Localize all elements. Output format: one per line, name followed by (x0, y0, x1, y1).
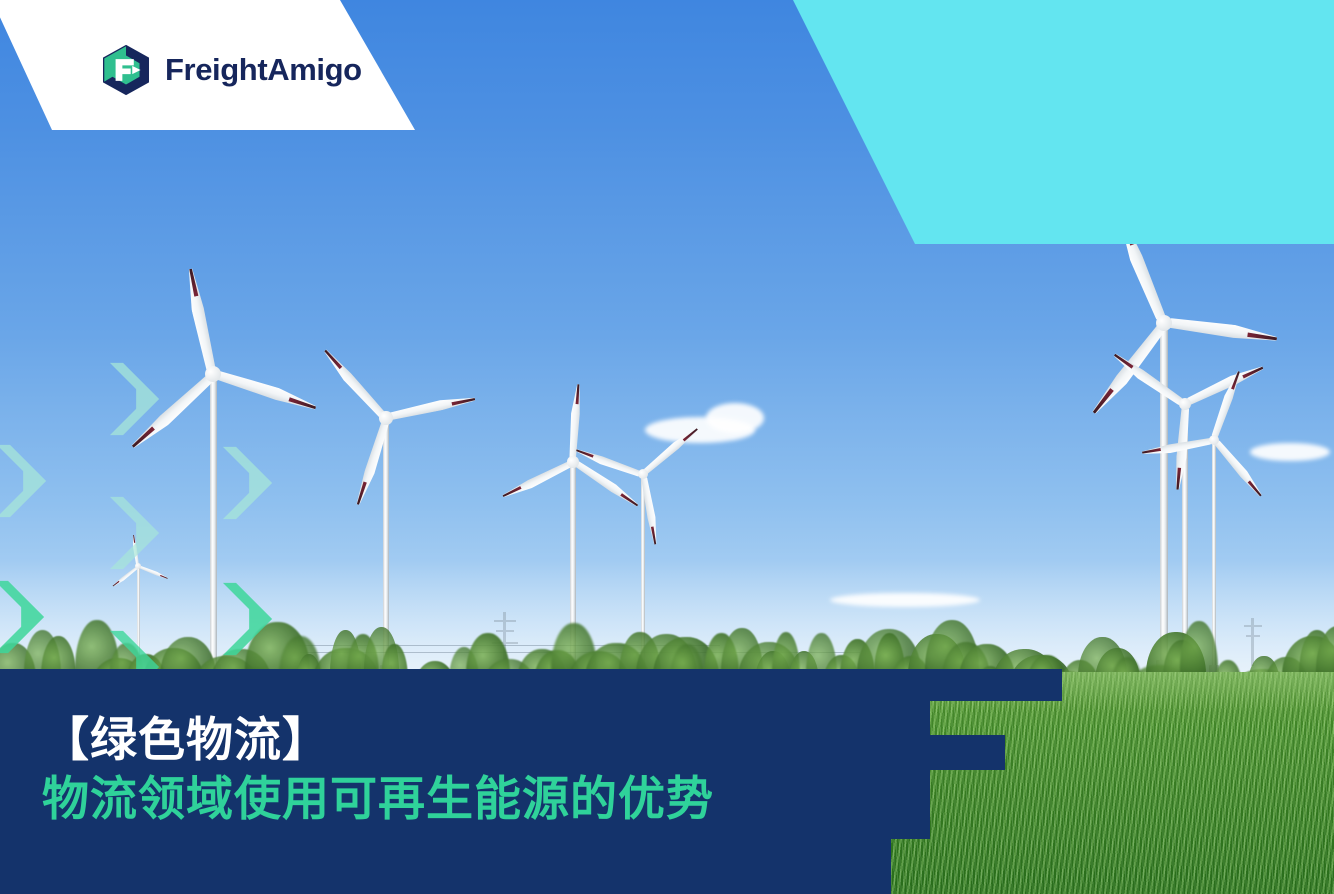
turbine-hub (205, 366, 221, 382)
chevron-right-arrow-icon (0, 576, 72, 658)
title-block: 【绿色物流】 物流领域使用可再生能源的优势 (42, 714, 922, 825)
title-line-2: 物流领域使用可再生能源的优势 (42, 773, 922, 826)
turbine-hub (379, 411, 392, 424)
brand-wordmark: FreightAmigo (165, 52, 362, 88)
chevron-right-arrow-icon (105, 358, 187, 440)
turbine-hub (567, 456, 579, 468)
chevron-right-arrow-icon (0, 440, 74, 522)
cloud-2 (706, 403, 764, 433)
chevron-right-arrow-icon (218, 442, 300, 524)
title-line-1: 【绿色物流】 (42, 714, 922, 767)
brand-lockup[interactable]: FreightAmigo (100, 44, 362, 96)
hexagon-f-play-icon (100, 44, 152, 96)
cloud-3 (1250, 443, 1330, 461)
chevron-right-arrow-icon (105, 492, 187, 574)
chevron-right-arrow-icon (218, 578, 300, 660)
banner-canvas: FreightAmigo 【绿色物流】 物流领域使用可再生能源的优势 (0, 0, 1334, 894)
